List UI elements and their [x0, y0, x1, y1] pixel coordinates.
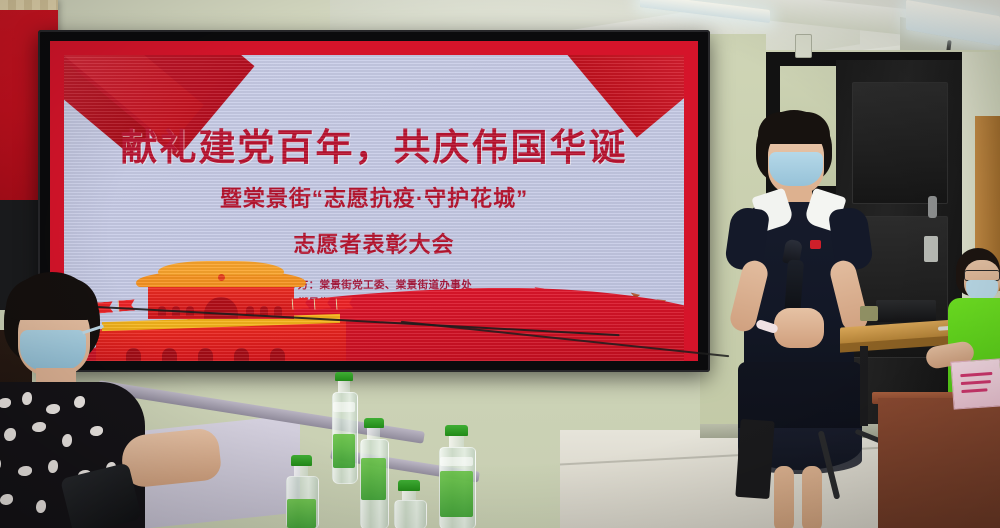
presenter-leg-right — [802, 466, 822, 528]
podium-sign — [950, 358, 1000, 409]
water-bottle[interactable] — [392, 480, 426, 528]
water-bottle[interactable] — [358, 418, 388, 528]
attendee-hair-fringe — [6, 278, 98, 320]
presenter-hands — [774, 308, 824, 348]
tiananmen-arch — [162, 348, 177, 361]
water-bottle[interactable] — [437, 425, 475, 528]
side-table-leg — [860, 346, 868, 426]
presenter-leg-left — [774, 466, 794, 528]
chair — [735, 419, 774, 499]
slide-title-sub2: 志愿者表彰大会 — [64, 227, 684, 259]
equipment-small — [860, 306, 878, 321]
podium — [878, 398, 1000, 528]
tiananmen-arch — [198, 348, 213, 361]
slide-title-main: 献礼建党百年，共庆伟国华诞 — [64, 117, 684, 171]
tiananmen-arch — [234, 348, 249, 361]
slide-content-area: 献礼建党百年，共庆伟国华诞 暨棠景街“志愿抗疫·守护花城” 志愿者表彰大会 主办… — [64, 55, 684, 361]
presentation-slide: 献礼建党百年，共庆伟国华诞 暨棠景街“志愿抗疫·守护花城” 志愿者表彰大会 主办… — [50, 41, 698, 361]
equipment-box — [876, 300, 936, 322]
party-badge-icon — [810, 240, 821, 249]
tiananmen-arch — [270, 348, 285, 361]
presenter-hair-fringe — [758, 112, 830, 144]
flag-icon — [314, 297, 332, 309]
face-mask-icon — [966, 280, 998, 300]
light-switch[interactable] — [795, 34, 812, 58]
door-plate — [924, 236, 938, 262]
tiananmen-roof-knob — [218, 274, 225, 281]
water-bottle[interactable] — [284, 455, 318, 528]
water-bottle[interactable] — [330, 372, 358, 482]
door-handle[interactable] — [928, 196, 937, 218]
tiananmen-window — [274, 306, 282, 316]
banner-top-trim — [0, 0, 58, 10]
flag-icon — [292, 297, 310, 309]
tiananmen-roof-upper — [158, 261, 284, 275]
face-mask-icon — [20, 330, 86, 370]
face-mask-icon — [769, 152, 823, 186]
slide-title-sub: 暨棠景街“志愿抗疫·守护花城” — [64, 181, 684, 213]
conference-room-photo: 献礼建党百年，共庆伟国华诞 暨棠景街“志愿抗疫·守护花城” 志愿者表彰大会 主办… — [0, 0, 1000, 528]
